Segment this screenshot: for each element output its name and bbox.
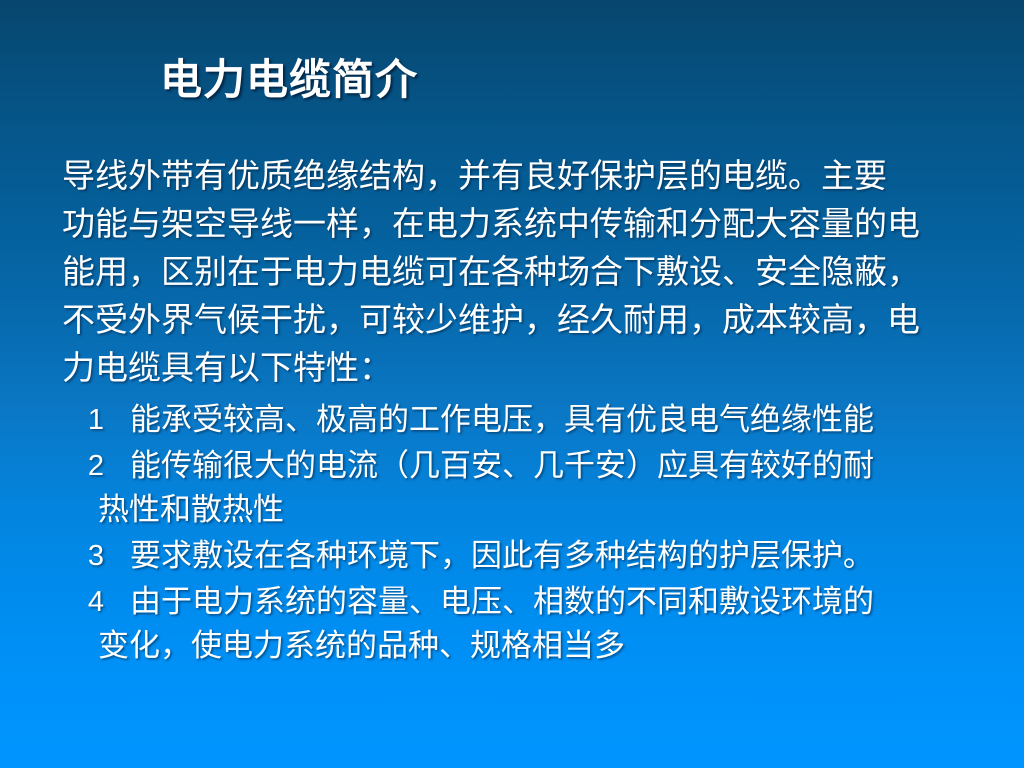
feature-list: 1 能承受较高、极高的工作电压，具有优良电气绝缘性能 2 能传输很大的电流（几百… [62, 398, 974, 668]
list-item-label: 能承受较高、极高的工作电压，具有优良电气绝缘性能 [130, 398, 974, 442]
list-item-label-continued: 热性和散热性 [98, 488, 974, 532]
paragraph-line: 不受外界气候干扰，可较少维护，经久耐用，成本较高，电 [62, 296, 974, 344]
list-item: 4 由于电力系统的容量、电压、相数的不同和敷设环境的 变化，使电力系统的品种、规… [62, 580, 974, 668]
list-item-number: 1 [82, 398, 104, 442]
slide-title: 电力电缆简介 [160, 54, 418, 105]
list-item-label: 要求敷设在各种环境下，因此有多种结构的护层保护。 [130, 534, 974, 578]
list-item: 2 能传输很大的电流（几百安、几千安）应具有较好的耐 热性和散热性 [62, 444, 974, 532]
intro-paragraph: 导线外带有优质绝缘结构，并有良好保护层的电缆。主要 功能与架空导线一样，在电力系… [62, 152, 974, 392]
list-item-number: 2 [82, 444, 104, 488]
paragraph-line: 导线外带有优质绝缘结构，并有良好保护层的电缆。主要 [62, 152, 974, 200]
list-item-number: 3 [82, 534, 104, 578]
paragraph-line: 能用，区别在于电力电缆可在各种场合下敷设、安全隐蔽， [62, 248, 974, 296]
list-item-label-continued: 变化，使电力系统的品种、规格相当多 [98, 624, 974, 668]
list-item: 3 要求敷设在各种环境下，因此有多种结构的护层保护。 [62, 534, 974, 578]
list-item: 1 能承受较高、极高的工作电压，具有优良电气绝缘性能 [62, 398, 974, 442]
slide-body: 导线外带有优质绝缘结构，并有良好保护层的电缆。主要 功能与架空导线一样，在电力系… [62, 152, 974, 670]
list-item-label: 能传输很大的电流（几百安、几千安）应具有较好的耐 [130, 444, 974, 488]
list-item-label: 由于电力系统的容量、电压、相数的不同和敷设环境的 [130, 580, 974, 624]
list-item-number: 4 [82, 580, 104, 624]
paragraph-line: 力电缆具有以下特性： [62, 344, 974, 392]
paragraph-line: 功能与架空导线一样，在电力系统中传输和分配大容量的电 [62, 200, 974, 248]
presentation-slide: 电力电缆简介 导线外带有优质绝缘结构，并有良好保护层的电缆。主要 功能与架空导线… [0, 0, 1024, 768]
